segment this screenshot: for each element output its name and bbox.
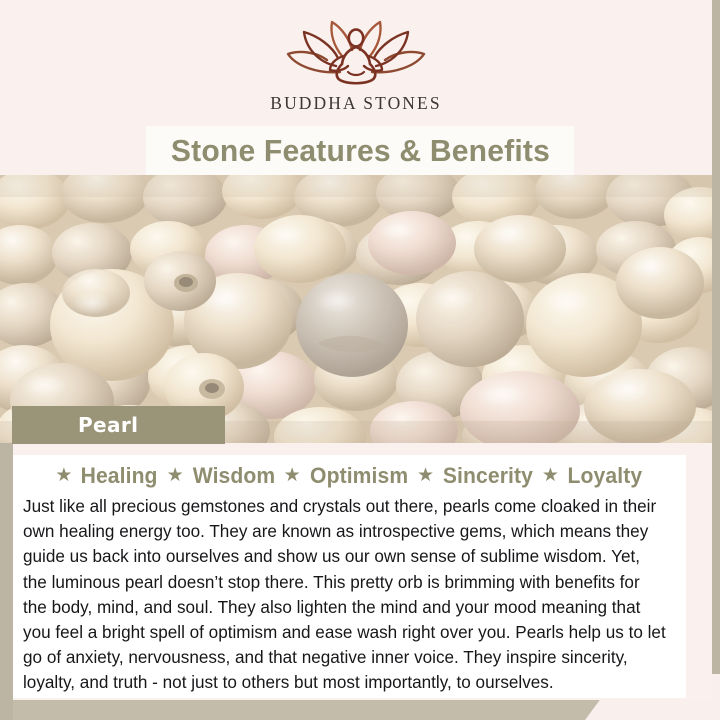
benefit-keyword-sincerity: Sincerity (443, 463, 533, 489)
brand-name: BUDDHA STONES (270, 93, 441, 114)
pearl-photo (0, 175, 712, 443)
stone-name: Pearl (78, 413, 138, 437)
star-icon: ★ (284, 466, 301, 485)
stone-name-bar: Pearl (12, 406, 225, 444)
benefit-keyword-loyalty: Loyalty (567, 463, 642, 489)
benefit-keyword-healing: Healing (81, 463, 158, 489)
star-icon: ★ (542, 466, 559, 485)
buddha-lotus-icon (280, 16, 432, 90)
stone-details-panel: ★ Healing ★ Wisdom ★ Optimism ★ Sincerit… (13, 455, 686, 698)
star-icon: ★ (55, 466, 72, 485)
stone-info-card: BUDDHA STONES Stone Features & Benefits (0, 0, 720, 720)
star-icon: ★ (417, 466, 434, 485)
star-icon: ★ (167, 466, 184, 485)
section-title-banner: Stone Features & Benefits (146, 126, 574, 176)
benefit-keyword-list: ★ Healing ★ Wisdom ★ Optimism ★ Sincerit… (21, 460, 678, 492)
brand-header: BUDDHA STONES (0, 0, 712, 126)
frame-band-left (0, 400, 13, 720)
benefit-keyword-optimism: Optimism (310, 463, 408, 489)
benefit-keyword-wisdom: Wisdom (192, 463, 275, 489)
pearl-photo-image (0, 175, 712, 443)
section-title: Stone Features & Benefits (170, 133, 549, 169)
stone-description: Just like all precious gemstones and cry… (23, 494, 666, 696)
